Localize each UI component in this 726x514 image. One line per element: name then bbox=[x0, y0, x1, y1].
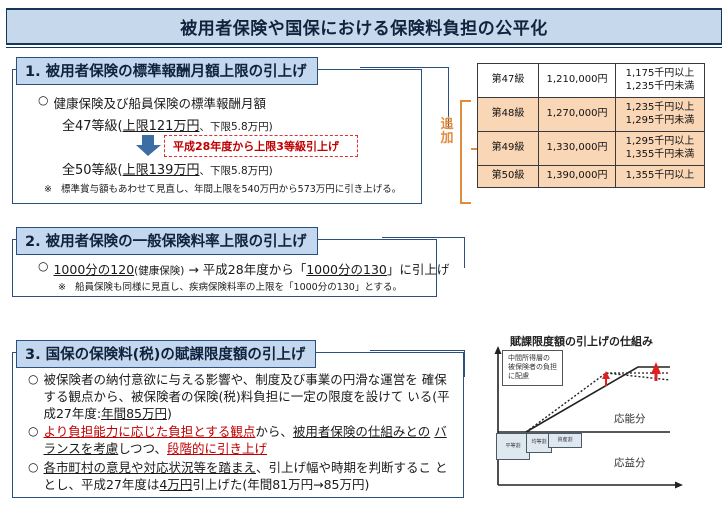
table-row: 第47級 1,210,000円 1,175千円以上 1,235千円未満 bbox=[478, 64, 705, 98]
s3-i3-rest: 、引上げ幅や時期を判断するこ bbox=[256, 460, 431, 475]
slide-page: 被用者保険や国保における保険料負担の公平化 1. 被用者保険の標準報酬月額上限の… bbox=[0, 0, 726, 514]
section-3-item-2: ○ より負担能力に応じた負担とする観点から、被用者保険の仕組みとの バランスを考… bbox=[28, 424, 452, 458]
section-1-grade-before: 全47等級(上限121万円、下限5.8万円) bbox=[62, 115, 273, 134]
grade-table: 第47級 1,210,000円 1,175千円以上 1,235千円未満 第48級… bbox=[477, 63, 705, 188]
section-2-note: ※ 船員保険も同様に見直し、疾病保険料率の上限を「1000分の130」とする。 bbox=[58, 279, 402, 293]
section-3-item-3: ○ 各市町村の意見や対応状況等を踏まえ、引上げ幅や時期を判断するこ ととし、平成… bbox=[28, 460, 452, 494]
s3-i2-emphasis-2: 段階的に引き上げ bbox=[167, 441, 267, 456]
section-1-grade-after: 全50等級(上限139万円、下限5.8万円) bbox=[62, 159, 273, 178]
rate-transition: → 平成28年度から「 bbox=[188, 262, 306, 277]
cell-amount: 1,390,000円 bbox=[539, 166, 616, 188]
section-3-item-1: ○ 被保険者の納付意欲に与える影響や、制度及び事業の円滑な運営を 確保する観点か… bbox=[28, 372, 452, 422]
cell-amount: 1,210,000円 bbox=[539, 64, 616, 98]
note-mark-icon: ※ bbox=[44, 184, 52, 195]
cell-range-line2: 1,235千円未満 bbox=[618, 81, 702, 94]
cell-grade: 第50級 bbox=[478, 166, 539, 188]
rate-before-note: (健康保険) bbox=[134, 265, 184, 277]
table-add-label: 追加 bbox=[440, 118, 454, 145]
section-1: 1. 被用者保険の標準報酬月額上限の引上げ ○ 健康保険及び船員保険の標準報酬月… bbox=[12, 57, 436, 204]
callout-line-3: に配慮 bbox=[508, 372, 557, 381]
grade-before-limit: 上限121万円 bbox=[123, 119, 200, 134]
grade-before-prefix: 全47等級( bbox=[62, 119, 123, 134]
diagram-minibox-3: 資産割 bbox=[548, 433, 582, 448]
table-add-label-text: 追加 bbox=[440, 117, 453, 146]
rate-before: 1000分の120 bbox=[53, 262, 134, 277]
section-1-item-1-text: 健康保険及び船員保険の標準報酬月額 bbox=[53, 93, 266, 112]
grade-after-suffix: 、下限5.8万円) bbox=[199, 165, 272, 177]
cell-range-line1: 1,175千円以上 bbox=[618, 68, 702, 81]
table-row: 第48級 1,270,000円 1,235千円以上 1,295千円未満 bbox=[478, 98, 705, 132]
grade-before-suffix: 、下限5.8万円) bbox=[199, 121, 272, 133]
s3-i3-underline-1: 各市町村の意見や対応状況等を踏まえ bbox=[43, 460, 256, 475]
section-3-item-2-text: より負担能力に応じた負担とする観点から、被用者保険の仕組みとの バランスを考慮し… bbox=[43, 424, 452, 458]
section-2: 2. 被用者保険の一般保険料率上限の引上げ ○ 1000分の120(健康保険) … bbox=[12, 227, 452, 297]
cell-range-line1: 1,235千円以上 bbox=[618, 102, 702, 115]
page-title-banner: 被用者保険や国保における保険料負担の公平化 bbox=[6, 8, 722, 45]
section-1-heading: 1. 被用者保険の標準報酬月額上限の引上げ bbox=[16, 57, 318, 85]
s3-i3-amount: 4万円 bbox=[159, 477, 192, 492]
cell-range: 1,355千円以上 bbox=[616, 166, 705, 188]
diagram-callout: 中間所得層の 被保険者の負担 に配慮 bbox=[502, 350, 563, 386]
page-title: 被用者保険や国保における保険料負担の公平化 bbox=[180, 14, 548, 39]
section-1-item-1: ○ 健康保険及び船員保険の標準報酬月額 bbox=[38, 93, 266, 112]
diagram-minibox-1: 平等割 bbox=[496, 433, 530, 460]
section-2-item-1-text: 1000分の120(健康保険) → 平成28年度から「1000分の130」に引上… bbox=[53, 259, 449, 278]
cell-grade: 第48級 bbox=[478, 98, 539, 132]
cell-grade: 第47級 bbox=[478, 64, 539, 98]
s3-i3-line2-post: 引上げた(年間81万円→85万円) bbox=[192, 477, 369, 492]
cell-range-line1: 1,295千円以上 bbox=[618, 136, 702, 149]
cell-range-line2: 1,295千円未満 bbox=[618, 115, 702, 128]
grade-after-limit: 上限139万円 bbox=[123, 163, 200, 178]
cell-amount: 1,270,000円 bbox=[539, 98, 616, 132]
s3-i2-rest: から、 bbox=[255, 424, 293, 439]
s3-i2-emphasis-1: より負担能力に応じた負担とする観点 bbox=[43, 424, 255, 439]
s3-i2-underline-1: 被用者保険の仕組みとの bbox=[293, 424, 430, 439]
grade-table-body: 第47級 1,210,000円 1,175千円以上 1,235千円未満 第48級… bbox=[478, 64, 705, 188]
cell-amount: 1,330,000円 bbox=[539, 132, 616, 166]
circle-bullet-icon: ○ bbox=[28, 460, 38, 475]
s3-i1-line3-suffix: ) bbox=[167, 406, 172, 421]
table-add-bracket bbox=[460, 100, 471, 204]
callout-line-1: 中間所得層の bbox=[508, 354, 557, 363]
burden-structure-diagram: 賦課限度額の引上げの仕組み 中間所得層の 被保険者の負担 に配慮 bbox=[488, 333, 720, 505]
section-1-note: ※ 標準賞与額もあわせて見直し、年間上限を540万円から573万円に引き上げる。 bbox=[44, 181, 401, 195]
note-mark-icon: ※ bbox=[58, 282, 66, 293]
s3-i1-limit: 年間85万円 bbox=[101, 406, 167, 421]
circle-bullet-icon: ○ bbox=[28, 424, 38, 439]
diagram-label-lower: 応益分 bbox=[614, 455, 646, 470]
table-row: 第50級 1,390,000円 1,355千円以上 bbox=[478, 166, 705, 188]
cell-range-line1: 1,355千円以上 bbox=[618, 170, 702, 183]
grade-after-prefix: 全50等級( bbox=[62, 163, 123, 178]
section-2-item-1: ○ 1000分の120(健康保険) → 平成28年度から「1000分の130」に… bbox=[38, 259, 449, 278]
section-2-heading: 2. 被用者保険の一般保険料率上限の引上げ bbox=[16, 227, 318, 255]
section-1-callout: 平成28年度から上限3等級引上げ bbox=[164, 135, 358, 157]
section-3-item-1-text: 被保険者の納付意欲に与える影響や、制度及び事業の円滑な運営を 確保する観点から、… bbox=[43, 372, 452, 422]
section-2-note-text: 船員保険も同様に見直し、疾病保険料率の上限を「1000分の130」とする。 bbox=[75, 282, 402, 293]
rate-after: 1000分の130 bbox=[306, 262, 387, 277]
down-arrow-icon bbox=[136, 135, 162, 157]
circle-bullet-icon: ○ bbox=[38, 259, 48, 274]
cell-range: 1,175千円以上 1,235千円未満 bbox=[616, 64, 705, 98]
cell-range: 1,295千円以上 1,355千円未満 bbox=[616, 132, 705, 166]
section-3: 3. 国保の保険料(税)の賦課限度額の引上げ ○ 被保険者の納付意欲に与える影響… bbox=[12, 340, 477, 498]
section-1-connector bbox=[360, 67, 449, 128]
diagram-label-upper: 応能分 bbox=[614, 411, 646, 426]
circle-bullet-icon: ○ bbox=[38, 93, 48, 108]
cell-range-line2: 1,355千円未満 bbox=[618, 149, 702, 162]
section-3-heading: 3. 国保の保険料(税)の賦課限度額の引上げ bbox=[16, 340, 316, 368]
s3-i2-mid: しつつ、 bbox=[118, 441, 167, 456]
cell-range: 1,235千円以上 1,295千円未満 bbox=[616, 98, 705, 132]
cell-grade: 第49級 bbox=[478, 132, 539, 166]
s3-i1-line1: 被保険者の納付意欲に与える影響や、制度及び事業の円滑な運営を bbox=[43, 372, 417, 387]
section-1-note-text: 標準賞与額もあわせて見直し、年間上限を540万円から573万円に引き上げる。 bbox=[61, 184, 401, 195]
table-row: 第49級 1,330,000円 1,295千円以上 1,355千円未満 bbox=[478, 132, 705, 166]
circle-bullet-icon: ○ bbox=[28, 372, 38, 387]
section-3-item-3-text: 各市町村の意見や対応状況等を踏まえ、引上げ幅や時期を判断するこ ととし、平成27… bbox=[43, 460, 452, 494]
rate-end: 」に引上げ bbox=[387, 262, 450, 277]
